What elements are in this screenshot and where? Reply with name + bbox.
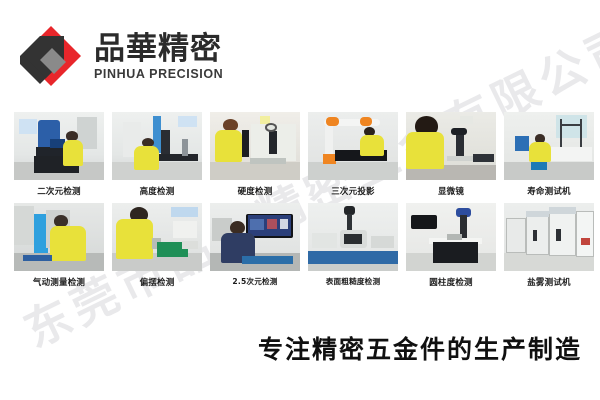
equipment-caption: 高度检测 — [140, 185, 175, 197]
gallery-item[interactable]: 气动测量检测 — [14, 203, 104, 288]
equipment-photo-height-gauge — [112, 112, 202, 180]
equipment-caption: 偏摆检测 — [140, 276, 175, 288]
pinhua-logo-icon — [14, 22, 84, 92]
gallery-item[interactable]: 高度检测 — [112, 112, 202, 197]
gallery-item[interactable]: 显微镜 — [406, 112, 496, 197]
equipment-photo-microscope — [406, 112, 496, 180]
gallery-item[interactable]: 2.5次元检测 — [210, 203, 300, 288]
gallery-item[interactable]: 偏摆检测 — [112, 203, 202, 288]
gallery-item[interactable]: 表面粗糙度检测 — [308, 203, 398, 288]
equipment-photo-salt-spray-chamber — [504, 203, 594, 271]
equipment-caption: 气动测量检测 — [33, 276, 85, 288]
equipment-photo-cylindricity-tester — [406, 203, 496, 271]
brand-name-cn: 品華精密 — [94, 33, 223, 66]
poster-canvas: 东莞市品华精密五金有限公司 品華精密 PINHUA PRECISION — [0, 0, 600, 400]
equipment-gallery: 二次元检测 高度检测 — [14, 112, 586, 288]
equipment-caption: 寿命测试机 — [527, 185, 571, 197]
gallery-item[interactable]: 三次元投影 — [308, 112, 398, 197]
equipment-photo-life-test-machine — [504, 112, 594, 180]
equipment-caption: 盐雾测试机 — [527, 276, 571, 288]
equipment-caption: 表面粗糙度检测 — [326, 276, 381, 287]
equipment-caption: 硬度检测 — [238, 185, 273, 197]
equipment-caption: 二次元检测 — [37, 185, 81, 197]
gallery-item[interactable]: 盐雾测试机 — [504, 203, 594, 288]
page-tagline: 专注精密五金件的生产制造 — [250, 330, 590, 366]
equipment-photo-air-gauge — [14, 203, 104, 271]
equipment-photo-computer-workstation — [210, 203, 300, 271]
equipment-photo-vision-measuring-machine — [14, 112, 104, 180]
equipment-photo-cmm-machine — [308, 112, 398, 180]
equipment-caption: 显微镜 — [438, 185, 464, 197]
gallery-item[interactable]: 寿命测试机 — [504, 112, 594, 197]
brand-header: 品華精密 PINHUA PRECISION — [14, 22, 223, 92]
brand-name-en: PINHUA PRECISION — [94, 67, 223, 81]
gallery-item[interactable]: 圆柱度检测 — [406, 203, 496, 288]
equipment-caption: 三次元投影 — [331, 185, 375, 197]
equipment-photo-runout-tester — [112, 203, 202, 271]
gallery-item[interactable]: 硬度检测 — [210, 112, 300, 197]
equipment-caption: 圆柱度检测 — [429, 276, 473, 288]
brand-wordmark: 品華精密 PINHUA PRECISION — [94, 33, 223, 82]
gallery-item[interactable]: 二次元检测 — [14, 112, 104, 197]
equipment-caption: 2.5次元检测 — [232, 276, 277, 287]
equipment-photo-roughness-tester — [308, 203, 398, 271]
equipment-photo-hardness-tester — [210, 112, 300, 180]
